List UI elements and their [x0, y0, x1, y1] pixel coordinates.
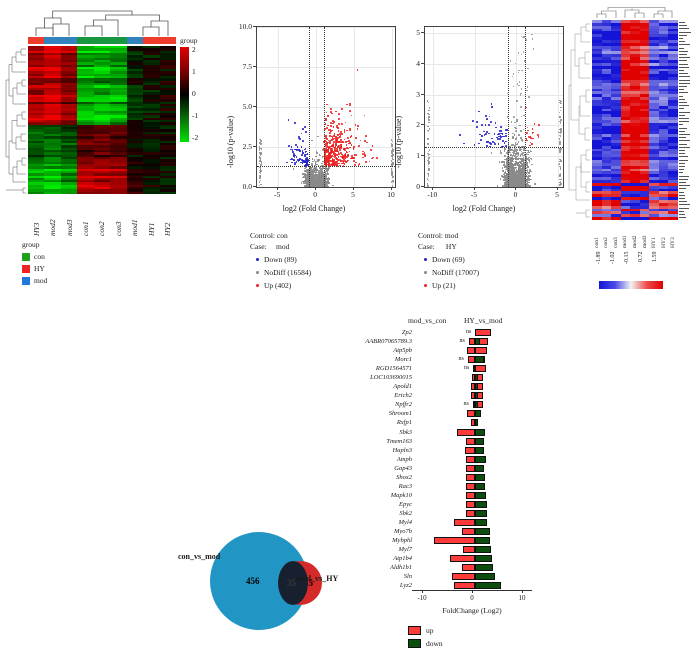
volcano-ytick: 0.0: [228, 182, 252, 191]
volcano-point-up: [341, 133, 343, 135]
volcano-point-down: [305, 131, 307, 133]
threshold-line-foldchange: [309, 27, 310, 187]
group-legend: group conHYmod: [22, 240, 47, 288]
volcano-point-nodiff: [304, 176, 306, 178]
gridline-y: [425, 64, 563, 65]
volcano-point-down: [299, 150, 301, 152]
volcano-point-nodiff: [261, 148, 262, 149]
volcano-point-nodiff: [260, 158, 261, 159]
volcano-point-up: [337, 127, 339, 129]
volcano-point-up: [346, 141, 348, 143]
volcano-point-nodiff: [321, 163, 323, 165]
ytick-mark: [253, 146, 256, 147]
volcano-point-up: [334, 155, 336, 157]
volcano-legend-label: NoDiff (16584): [264, 267, 311, 278]
volcano-point-nodiff: [260, 180, 261, 181]
heatmap-column-labels: HY3mod2mod3con1con2con3mod1HY1HY2: [28, 196, 176, 236]
volcano-legend-item: Down (89): [250, 254, 311, 265]
group-legend-item-HY: HY: [22, 264, 47, 273]
column-label-mod1: mod1: [127, 196, 143, 236]
volcano-point-nodiff: [260, 184, 261, 185]
volcano-point-down: [288, 119, 290, 121]
volcano-legend-label: Up (402): [264, 280, 291, 291]
volcano-point-down: [305, 161, 307, 163]
volcano-point-down: [298, 136, 300, 138]
volcano-point-nodiff: [392, 144, 393, 145]
volcano-point-up: [333, 153, 335, 155]
volcano-point-nodiff: [499, 161, 501, 163]
heatmap-cells: [28, 46, 176, 194]
volcano-point-up: [337, 141, 339, 143]
column-label-con2: con2: [94, 196, 110, 236]
volcano-point-up: [338, 156, 340, 158]
heatmap-cell: [61, 192, 77, 194]
volcano-point-down: [301, 154, 303, 156]
annotation-cell-con1: [77, 37, 93, 44]
volcano-point-up: [355, 154, 357, 156]
annotation-cell-HY2: [160, 37, 176, 44]
volcano-point-nodiff: [392, 185, 393, 186]
volcano-point-up: [330, 108, 332, 110]
heatmap-left-panel: HY3mod2mod3con1con2con3mod1HY1HY2 group …: [0, 0, 230, 310]
volcano-point-up: [351, 144, 353, 146]
volcano-xtick: 5: [341, 190, 365, 199]
volcano-point-down: [302, 128, 304, 130]
group-swatch-con: [22, 253, 30, 261]
volcano-point-down: [304, 126, 306, 128]
color-scale-gradient: [180, 47, 189, 142]
volcano-point-nodiff: [521, 116, 523, 118]
color-scale-tick: -1: [192, 111, 198, 120]
volcano-point-up: [337, 146, 339, 148]
volcano-point-up: [330, 111, 332, 113]
xtick-mark: [391, 187, 392, 190]
volcano2-plot-area: [424, 26, 564, 188]
volcano-point-up: [339, 149, 341, 151]
volcano-point-nodiff: [259, 177, 260, 178]
volcano1-case: Case: mod: [250, 241, 311, 252]
threshold-line-pvalue: [257, 166, 395, 167]
volcano-point-up: [349, 151, 351, 153]
group-label-mod: mod: [34, 276, 47, 285]
volcano-point-up: [333, 159, 335, 161]
volcano-point-up: [352, 157, 354, 159]
volcano-point-nodiff: [516, 121, 518, 123]
volcano-point-up: [344, 156, 346, 158]
volcano-point-up: [341, 108, 343, 110]
xtick-mark: [353, 187, 354, 190]
volcano-point-nodiff: [293, 168, 295, 170]
volcano-point-up: [357, 69, 359, 71]
volcano-point-up: [371, 158, 373, 160]
color-scale-tick: 1: [192, 67, 196, 76]
volcano-point-up: [344, 139, 346, 141]
volcano-point-nodiff: [304, 173, 306, 175]
gridline-y: [425, 187, 563, 188]
volcano-point-up: [327, 145, 329, 147]
volcano-point-up: [336, 125, 338, 127]
volcano-point-up: [338, 130, 340, 132]
volcano-point-nodiff: [317, 161, 319, 163]
volcano-legend-dot: [256, 258, 259, 261]
volcano-point-nodiff: [259, 181, 260, 182]
volcano-point-nodiff: [393, 176, 394, 177]
volcano-point-up: [364, 115, 366, 117]
volcano-point-up: [362, 153, 364, 155]
volcano-point-nodiff: [312, 161, 314, 163]
group-swatch-mod: [22, 277, 30, 285]
volcano-point-up: [326, 135, 328, 137]
volcano-point-up: [341, 123, 343, 125]
volcano-point-nodiff: [328, 167, 330, 169]
volcano-point-nodiff: [317, 136, 319, 138]
group-swatch-HY: [22, 265, 30, 273]
volcano-point-up: [364, 155, 366, 157]
volcano-point-up: [338, 153, 340, 155]
volcano-point-up: [325, 118, 327, 120]
gridline-x: [475, 27, 476, 187]
column-label-con3: con3: [110, 196, 126, 236]
volcano-point-up: [326, 127, 328, 129]
volcano-legend-dot: [256, 284, 259, 287]
volcano-point-up: [338, 113, 340, 115]
volcano-ytick: 7.5: [228, 62, 252, 71]
volcano-point-up: [370, 149, 372, 151]
volcano-point-nodiff: [518, 141, 520, 143]
volcano-point-up: [342, 160, 344, 162]
volcano-point-up: [329, 140, 331, 142]
color-scale-tick: 2: [192, 45, 196, 54]
volcano-point-up: [346, 156, 348, 158]
volcano-point-up: [330, 151, 332, 153]
volcano-point-nodiff: [311, 140, 313, 142]
volcano-point-up: [351, 115, 353, 117]
volcano-point-nodiff: [514, 122, 516, 124]
volcano-point-up: [366, 142, 368, 144]
group-annotation-bar: [28, 37, 176, 44]
volcano-point-up: [330, 125, 332, 127]
column-label-mod3: mod3: [61, 196, 77, 236]
volcano-point-down: [293, 159, 295, 161]
volcano-point-nodiff: [302, 173, 304, 175]
group-legend-title: group: [22, 240, 47, 249]
volcano-point-up: [328, 158, 330, 160]
volcano-point-nodiff: [500, 152, 502, 154]
volcano-point-nodiff: [314, 168, 316, 170]
volcano-plot-1: -log10 (p-value) log2 (Fold Change) Cont…: [228, 8, 400, 308]
volcano-plot-2: -log10 (p-value) log2 (Fold Change) Cont…: [396, 8, 572, 308]
volcano-ytick: 5.0: [228, 102, 252, 111]
volcano-legend-label: Down (89): [264, 254, 297, 265]
volcano-point-up: [326, 104, 328, 106]
volcano-point-up: [335, 111, 337, 113]
volcano-point-up: [359, 163, 361, 165]
ytick-mark: [253, 26, 256, 27]
row-dendrogram: [5, 46, 26, 194]
volcano-point-up: [338, 123, 340, 125]
ytick-mark: [253, 66, 256, 67]
volcano-point-up: [330, 122, 332, 124]
volcano-point-down: [291, 162, 293, 164]
ytick-mark: [253, 106, 256, 107]
volcano-point-up: [369, 161, 371, 163]
volcano-point-up: [346, 104, 348, 106]
gridline-y: [425, 156, 563, 157]
volcano-point-up: [344, 131, 346, 133]
volcano-point-up: [349, 147, 351, 149]
volcano-point-up: [343, 142, 345, 144]
volcano-point-nodiff: [504, 155, 506, 157]
volcano-point-nodiff: [393, 182, 394, 183]
volcano-point-up: [325, 123, 327, 125]
volcano-point-nodiff: [315, 171, 317, 173]
volcano-point-up: [332, 120, 334, 122]
color-scale-tick: 0: [192, 89, 196, 98]
volcano-point-nodiff: [259, 172, 260, 173]
volcano-point-nodiff: [317, 159, 319, 161]
volcano-point-up: [340, 139, 342, 141]
volcano-point-nodiff: [326, 179, 328, 181]
volcano-point-up: [341, 141, 343, 143]
volcano-point-nodiff: [320, 186, 322, 188]
volcano-point-down: [302, 140, 304, 142]
xtick-mark: [277, 187, 278, 190]
volcano-point-nodiff: [500, 150, 502, 152]
column-label-HY3: HY3: [28, 196, 44, 236]
volcano-point-up: [357, 125, 359, 127]
group-legend-item-mod: mod: [22, 276, 47, 285]
volcano-point-nodiff: [329, 178, 331, 180]
volcano-point-up: [327, 151, 329, 153]
volcano-point-nodiff: [520, 130, 522, 132]
volcano-point-up: [330, 156, 332, 158]
volcano-point-down: [292, 151, 294, 153]
volcano-point-nodiff: [531, 164, 533, 166]
group-label-con: con: [34, 252, 45, 261]
ytick-mark: [253, 186, 256, 187]
volcano-point-up: [349, 104, 351, 106]
gridline-y: [425, 95, 563, 96]
volcano-point-up: [349, 110, 351, 112]
volcano-point-down: [288, 145, 290, 147]
volcano-point-down: [294, 122, 296, 124]
volcano-point-nodiff: [520, 137, 522, 139]
volcano-point-up: [338, 118, 340, 120]
gridline-x: [433, 27, 434, 187]
volcano-point-nodiff: [319, 179, 321, 181]
volcano-point-nodiff: [315, 180, 317, 182]
heatmap-cell: [143, 192, 159, 194]
annotation-cell-HY1: [143, 37, 159, 44]
volcano-point-nodiff: [261, 161, 262, 162]
volcano-point-up: [326, 138, 328, 140]
volcano-xtick: -5: [265, 190, 289, 199]
column-label-mod2: mod2: [44, 196, 60, 236]
volcano-legend-dot: [256, 271, 259, 274]
volcano-point-nodiff: [325, 167, 327, 169]
volcano-point-up: [333, 135, 335, 137]
volcano-point-up: [331, 160, 333, 162]
volcano-point-up: [331, 113, 333, 115]
volcano-point-up: [365, 135, 367, 137]
volcano-point-down: [302, 152, 304, 154]
volcano-point-up: [347, 137, 349, 139]
volcano-point-up: [327, 115, 329, 117]
gridline-y: [425, 125, 563, 126]
volcano-point-down: [295, 144, 297, 146]
volcano-point-up: [344, 163, 346, 165]
volcano-point-nodiff: [319, 154, 321, 156]
volcano-point-nodiff: [316, 161, 318, 163]
volcano-point-nodiff: [515, 138, 517, 140]
volcano-point-up: [349, 129, 351, 131]
column-dendrogram: [28, 6, 176, 36]
volcano-point-up: [362, 157, 364, 159]
group-legend-item-con: con: [22, 252, 47, 261]
volcano-point-down: [301, 133, 303, 135]
volcano-point-nodiff: [313, 174, 315, 176]
color-scale-tick: -2: [192, 133, 198, 142]
volcano-point-down: [294, 162, 296, 164]
volcano-point-up: [346, 144, 348, 146]
volcano-point-up: [326, 161, 328, 163]
annotation-cell-con3: [110, 37, 126, 44]
volcano-point-nodiff: [391, 181, 392, 182]
volcano-point-nodiff: [391, 168, 392, 169]
volcano-ytick: 10.0: [228, 22, 252, 31]
annotation-cell-mod3: [61, 37, 77, 44]
volcano-point-nodiff: [392, 141, 393, 142]
volcano-point-down: [294, 149, 296, 151]
volcano-point-up: [333, 126, 335, 128]
heatmap-cell: [160, 192, 176, 194]
volcano-point-up: [365, 161, 367, 163]
volcano1-legend: Control: con Case: mod Down (89)NoDiff (…: [250, 230, 311, 291]
heatmap-cell: [77, 192, 93, 194]
group-label-HY: HY: [34, 264, 45, 273]
volcano1-xlabel: log2 (Fold Change): [228, 204, 400, 213]
volcano-point-nodiff: [316, 175, 318, 177]
heatmap-cell: [127, 192, 143, 194]
volcano-point-down: [294, 164, 296, 166]
gridline-y: [425, 33, 563, 34]
volcano-point-up: [329, 142, 331, 144]
volcano-point-up: [346, 147, 348, 149]
volcano-point-up: [348, 140, 350, 142]
volcano-point-up: [376, 157, 378, 159]
volcano-point-down: [304, 155, 306, 157]
heatmap-color-scale: group 210-1-2: [180, 36, 226, 144]
heatmap-cell: [28, 192, 44, 194]
heatmap-cell: [44, 192, 60, 194]
color-scale-title: group: [180, 36, 198, 45]
column-label-HY2: HY2: [160, 196, 176, 236]
volcano-point-nodiff: [328, 186, 330, 188]
volcano-point-nodiff: [310, 175, 312, 177]
volcano1-plot-area: [256, 26, 396, 188]
volcano-point-up: [357, 128, 359, 130]
volcano-legend-item: NoDiff (16584): [250, 267, 311, 278]
volcano-point-nodiff: [310, 170, 312, 172]
volcano-point-up: [345, 122, 347, 124]
volcano-point-up: [336, 154, 338, 156]
volcano-point-up: [360, 140, 362, 142]
volcano-point-down: [286, 162, 288, 164]
volcano-point-down: [296, 156, 298, 158]
volcano-point-up: [329, 132, 331, 134]
volcano-point-nodiff: [312, 158, 314, 160]
volcano-point-nodiff: [260, 143, 261, 144]
heatmap-cell: [110, 192, 126, 194]
volcano-point-up: [330, 129, 332, 131]
volcano-ytick: 2.5: [228, 142, 252, 151]
annotation-cell-HY3: [28, 37, 44, 44]
threshold-line-foldchange: [324, 27, 325, 187]
column-label-con1: con1: [77, 196, 93, 236]
volcano-point-up: [345, 153, 347, 155]
volcano-point-down: [299, 138, 301, 140]
heatmap-cell: [94, 192, 110, 194]
volcano-point-up: [327, 156, 329, 158]
gridline-x: [278, 27, 279, 187]
volcano-legend-item: Up (402): [250, 280, 311, 291]
volcano-point-up: [346, 130, 348, 132]
annotation-cell-con2: [94, 37, 110, 44]
volcano-point-nodiff: [327, 173, 329, 175]
volcano-point-up: [326, 112, 328, 114]
xtick-mark: [315, 187, 316, 190]
volcano1-control: Control: con: [250, 230, 311, 241]
volcano-point-nodiff: [329, 182, 331, 184]
annotation-cell-mod1: [127, 37, 143, 44]
volcano-xtick: 0: [303, 190, 327, 199]
column-label-HY1: HY1: [143, 196, 159, 236]
annotation-cell-mod2: [44, 37, 60, 44]
